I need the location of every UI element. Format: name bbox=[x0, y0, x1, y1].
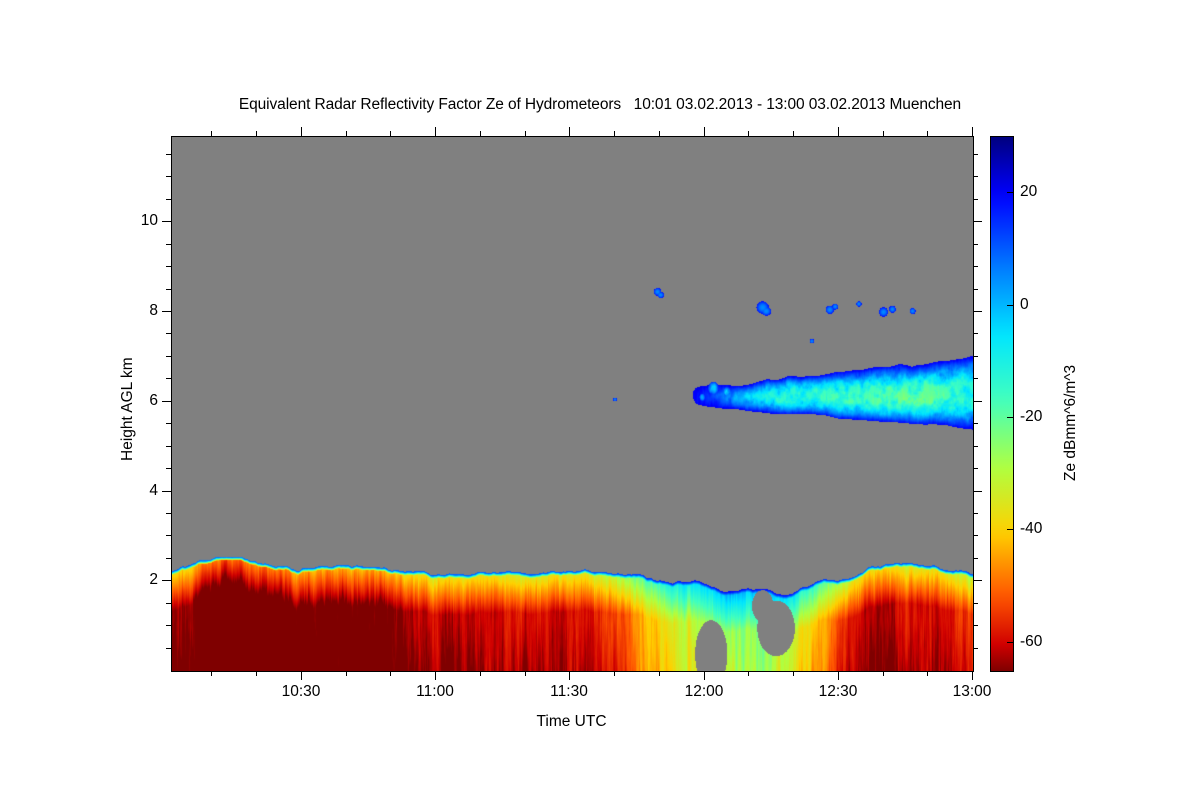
x-tick-top bbox=[972, 127, 973, 136]
x-tick-top bbox=[704, 127, 705, 136]
x-tick-minor bbox=[256, 671, 257, 676]
x-tick-minor bbox=[883, 671, 884, 676]
radar-reflectivity-figure: Equivalent Radar Reflectivity Factor Ze … bbox=[0, 0, 1200, 800]
y-tick-minor bbox=[166, 356, 171, 357]
x-tick-top bbox=[211, 131, 212, 136]
colorbar-tick bbox=[1007, 417, 1013, 418]
y-tick-major bbox=[162, 491, 171, 492]
chart-title: Equivalent Radar Reflectivity Factor Ze … bbox=[0, 96, 1200, 114]
y-tick-minor bbox=[166, 333, 171, 334]
y-tick-right bbox=[973, 154, 978, 155]
colorbar-tick-label: 0 bbox=[1020, 296, 1029, 314]
y-tick-right bbox=[973, 625, 978, 626]
y-axis-label: Height AGL km bbox=[119, 357, 137, 461]
x-tick-minor bbox=[525, 671, 526, 676]
y-tick-right bbox=[973, 266, 978, 267]
colorbar-tick bbox=[1007, 529, 1013, 530]
colorbar-tick-label: -40 bbox=[1020, 520, 1042, 538]
x-tick-top bbox=[435, 127, 436, 136]
y-tick-minor bbox=[166, 176, 171, 177]
x-tick-minor bbox=[211, 671, 212, 676]
reflectivity-heatmap-canvas bbox=[172, 137, 973, 671]
y-tick-minor bbox=[166, 199, 171, 200]
x-tick-minor bbox=[748, 671, 749, 676]
x-tick-top bbox=[390, 131, 391, 136]
plot-area bbox=[171, 136, 974, 672]
x-tick-major bbox=[435, 671, 436, 680]
y-tick-label: 2 bbox=[149, 571, 158, 589]
colorbar-tick bbox=[1007, 305, 1013, 306]
y-tick-right bbox=[973, 446, 978, 447]
colorbar-tick bbox=[1007, 192, 1013, 193]
y-tick-right bbox=[973, 289, 978, 290]
x-tick-top bbox=[793, 131, 794, 136]
y-tick-label: 10 bbox=[141, 212, 158, 230]
y-tick-right bbox=[973, 199, 978, 200]
y-tick-minor bbox=[166, 558, 171, 559]
y-tick-right bbox=[973, 176, 978, 177]
y-tick-right bbox=[973, 423, 978, 424]
y-tick-major bbox=[162, 311, 171, 312]
y-tick-right bbox=[973, 311, 982, 312]
y-tick-major bbox=[162, 401, 171, 402]
y-tick-minor bbox=[166, 154, 171, 155]
y-tick-right bbox=[973, 648, 978, 649]
x-tick-top bbox=[346, 131, 347, 136]
colorbar-label: Ze dBmm^6/m^3 bbox=[1062, 365, 1080, 481]
x-tick-major bbox=[972, 671, 973, 680]
colorbar-tick-label: -20 bbox=[1020, 408, 1042, 426]
y-tick-right bbox=[973, 244, 978, 245]
y-tick-label: 8 bbox=[149, 302, 158, 320]
colorbar-tick-label: 20 bbox=[1020, 183, 1037, 201]
x-tick-label: 11:00 bbox=[416, 683, 454, 701]
y-tick-minor bbox=[166, 378, 171, 379]
y-tick-right bbox=[973, 513, 978, 514]
x-tick-label: 10:30 bbox=[282, 683, 321, 701]
y-tick-minor bbox=[166, 289, 171, 290]
x-tick-label: 12:30 bbox=[819, 683, 858, 701]
x-tick-top bbox=[301, 127, 302, 136]
y-tick-right bbox=[973, 356, 978, 357]
x-tick-major bbox=[301, 671, 302, 680]
y-tick-right bbox=[973, 221, 982, 222]
y-tick-right bbox=[973, 378, 978, 379]
x-tick-label: 13:00 bbox=[953, 683, 992, 701]
colorbar-tick-label: -60 bbox=[1020, 633, 1042, 651]
x-tick-label: 11:30 bbox=[550, 683, 588, 701]
x-tick-label: 12:00 bbox=[685, 683, 724, 701]
x-tick-top bbox=[748, 131, 749, 136]
x-tick-minor bbox=[480, 671, 481, 676]
x-tick-minor bbox=[346, 671, 347, 676]
x-tick-top bbox=[927, 131, 928, 136]
y-tick-minor bbox=[166, 603, 171, 604]
y-tick-right bbox=[973, 401, 982, 402]
y-tick-major bbox=[162, 580, 171, 581]
x-tick-top bbox=[838, 127, 839, 136]
x-axis-label: Time UTC bbox=[372, 713, 772, 731]
x-tick-minor bbox=[659, 671, 660, 676]
x-tick-minor bbox=[614, 671, 615, 676]
y-tick-right bbox=[973, 468, 978, 469]
x-tick-minor bbox=[390, 671, 391, 676]
y-tick-right bbox=[973, 333, 978, 334]
y-tick-minor bbox=[166, 625, 171, 626]
y-tick-right bbox=[973, 580, 982, 581]
x-tick-top bbox=[659, 131, 660, 136]
x-tick-major bbox=[704, 671, 705, 680]
y-tick-major bbox=[162, 221, 171, 222]
y-tick-minor bbox=[166, 513, 171, 514]
y-tick-label: 6 bbox=[149, 392, 158, 410]
x-tick-top bbox=[256, 131, 257, 136]
y-tick-minor bbox=[166, 266, 171, 267]
colorbar-gradient bbox=[991, 137, 1013, 671]
x-tick-top bbox=[614, 131, 615, 136]
y-tick-minor bbox=[166, 648, 171, 649]
y-tick-minor bbox=[166, 423, 171, 424]
y-tick-minor bbox=[166, 468, 171, 469]
y-tick-right bbox=[973, 491, 982, 492]
x-tick-top bbox=[883, 131, 884, 136]
y-tick-right bbox=[973, 535, 978, 536]
x-tick-top bbox=[525, 131, 526, 136]
y-tick-minor bbox=[166, 535, 171, 536]
y-tick-right bbox=[973, 558, 978, 559]
x-tick-top bbox=[569, 127, 570, 136]
colorbar-tick bbox=[1007, 642, 1013, 643]
y-tick-right bbox=[973, 603, 978, 604]
y-tick-label: 4 bbox=[149, 482, 158, 500]
y-tick-minor bbox=[166, 446, 171, 447]
x-tick-minor bbox=[927, 671, 928, 676]
x-tick-minor bbox=[793, 671, 794, 676]
y-tick-minor bbox=[166, 244, 171, 245]
x-tick-major bbox=[569, 671, 570, 680]
x-tick-major bbox=[838, 671, 839, 680]
x-tick-top bbox=[480, 131, 481, 136]
colorbar bbox=[990, 136, 1014, 672]
